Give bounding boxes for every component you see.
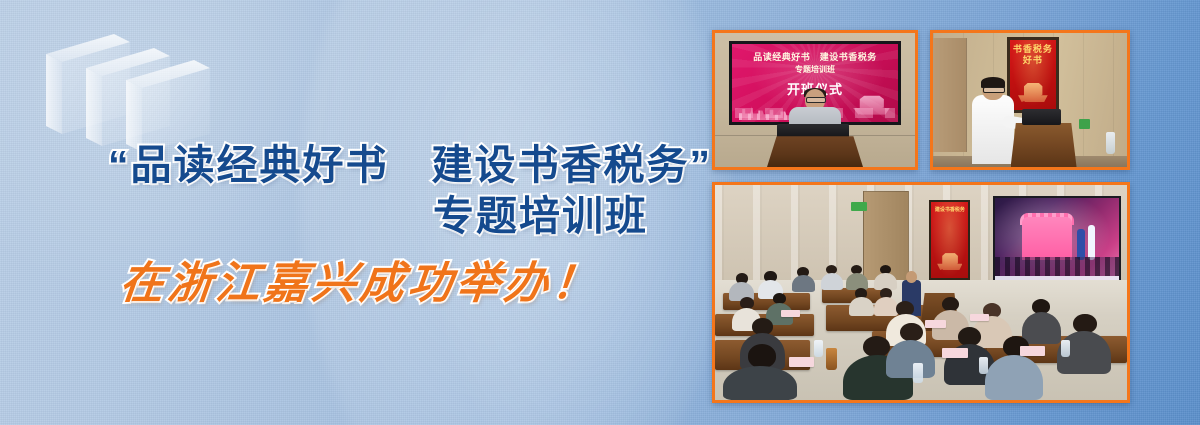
stacked-books-icon: [38, 22, 238, 152]
book-back: [46, 34, 130, 134]
photo3-name-card: [925, 320, 946, 328]
headline-block: “品读经典好书 建设书香税务” 专题培训班 在浙江嘉兴成功举办！: [0, 140, 690, 312]
photo3-water-bottle: [979, 357, 988, 374]
photo3-presentation-screen: [993, 196, 1121, 286]
photo3-banner-text: 建设书香税务: [931, 207, 968, 214]
photo-lecturer-at-podium[interactable]: 书香税务好书: [930, 30, 1130, 170]
photo3-attendee-body: [792, 275, 815, 292]
photo1-screen-text-line2: 专题培训班: [732, 64, 898, 75]
photo3-screen-figure-1: [1077, 229, 1086, 260]
photo3-attendee-body: [821, 273, 843, 290]
photo3-attendee-head: [773, 293, 786, 304]
photo1-podium: [767, 136, 863, 167]
photo3-attendee-head: [863, 336, 890, 358]
photo2-podium: [1011, 123, 1077, 167]
training-course-banner: “品读经典好书 建设书香税务” 专题培训班 在浙江嘉兴成功举办！ 品读经典好书 …: [0, 0, 1200, 425]
photo3-attendee-head: [900, 323, 922, 341]
photo2-laptop: [1022, 109, 1061, 125]
page-title-line-1: “品读经典好书 建设书香税务”: [0, 140, 690, 190]
photo2-water-bottle: [1106, 132, 1116, 153]
photo3-name-card: [942, 348, 969, 358]
photo3-name-card: [781, 310, 800, 317]
photo2-exit-sign: [1079, 119, 1091, 130]
photo3-name-card: [789, 357, 814, 367]
photo1-speaker-glasses: [806, 97, 826, 103]
page-subtitle: 在浙江嘉兴成功举办！: [0, 256, 693, 312]
photo-classroom-audience[interactable]: 建设书香税务: [712, 182, 1130, 403]
book-front: [126, 60, 210, 152]
photo3-red-banner: 建设书香税务: [929, 200, 970, 280]
book-middle: [86, 48, 170, 146]
photo1-screen-text-line1: 品读经典好书 建设书香税务: [732, 50, 898, 63]
photo2-door: [933, 38, 967, 152]
photo3-attendee-body: [985, 355, 1043, 400]
photo3-name-card: [970, 314, 989, 321]
photo-opening-ceremony[interactable]: 品读经典好书 建设书香税务 专题培训班 开班仪式: [712, 30, 918, 170]
page-title-line-2: 专题培训班: [0, 190, 690, 242]
photo2-lecturer-body: [972, 95, 1015, 165]
photo3-attendee-body: [849, 297, 874, 316]
photo3-standing-speaker-head: [906, 271, 917, 283]
photo2-banner-text: 书香税务好书: [1010, 44, 1056, 66]
photo2-red-banner: 书香税务好书: [1007, 37, 1059, 113]
photo2-lecturer-glasses: [983, 87, 1004, 94]
photo3-water-bottle: [814, 340, 823, 357]
photo3-water-bottle: [913, 363, 923, 382]
photo3-water-bottle: [826, 348, 837, 370]
photo3-attendee-head: [748, 344, 776, 368]
photo3-screen-crowd-graphic: [995, 257, 1119, 276]
photo3-screen-stage-graphic: [1022, 217, 1071, 260]
photo3-screen-figure-2: [1088, 225, 1095, 260]
photo3-attendee-body: [846, 273, 868, 290]
photo3-water-bottle: [1061, 340, 1070, 357]
photo3-attendee-body: [1022, 312, 1062, 344]
photo3-attendee-body: [874, 297, 899, 316]
photo3-name-card: [1020, 346, 1045, 356]
photo3-exit-sign: [851, 202, 867, 211]
